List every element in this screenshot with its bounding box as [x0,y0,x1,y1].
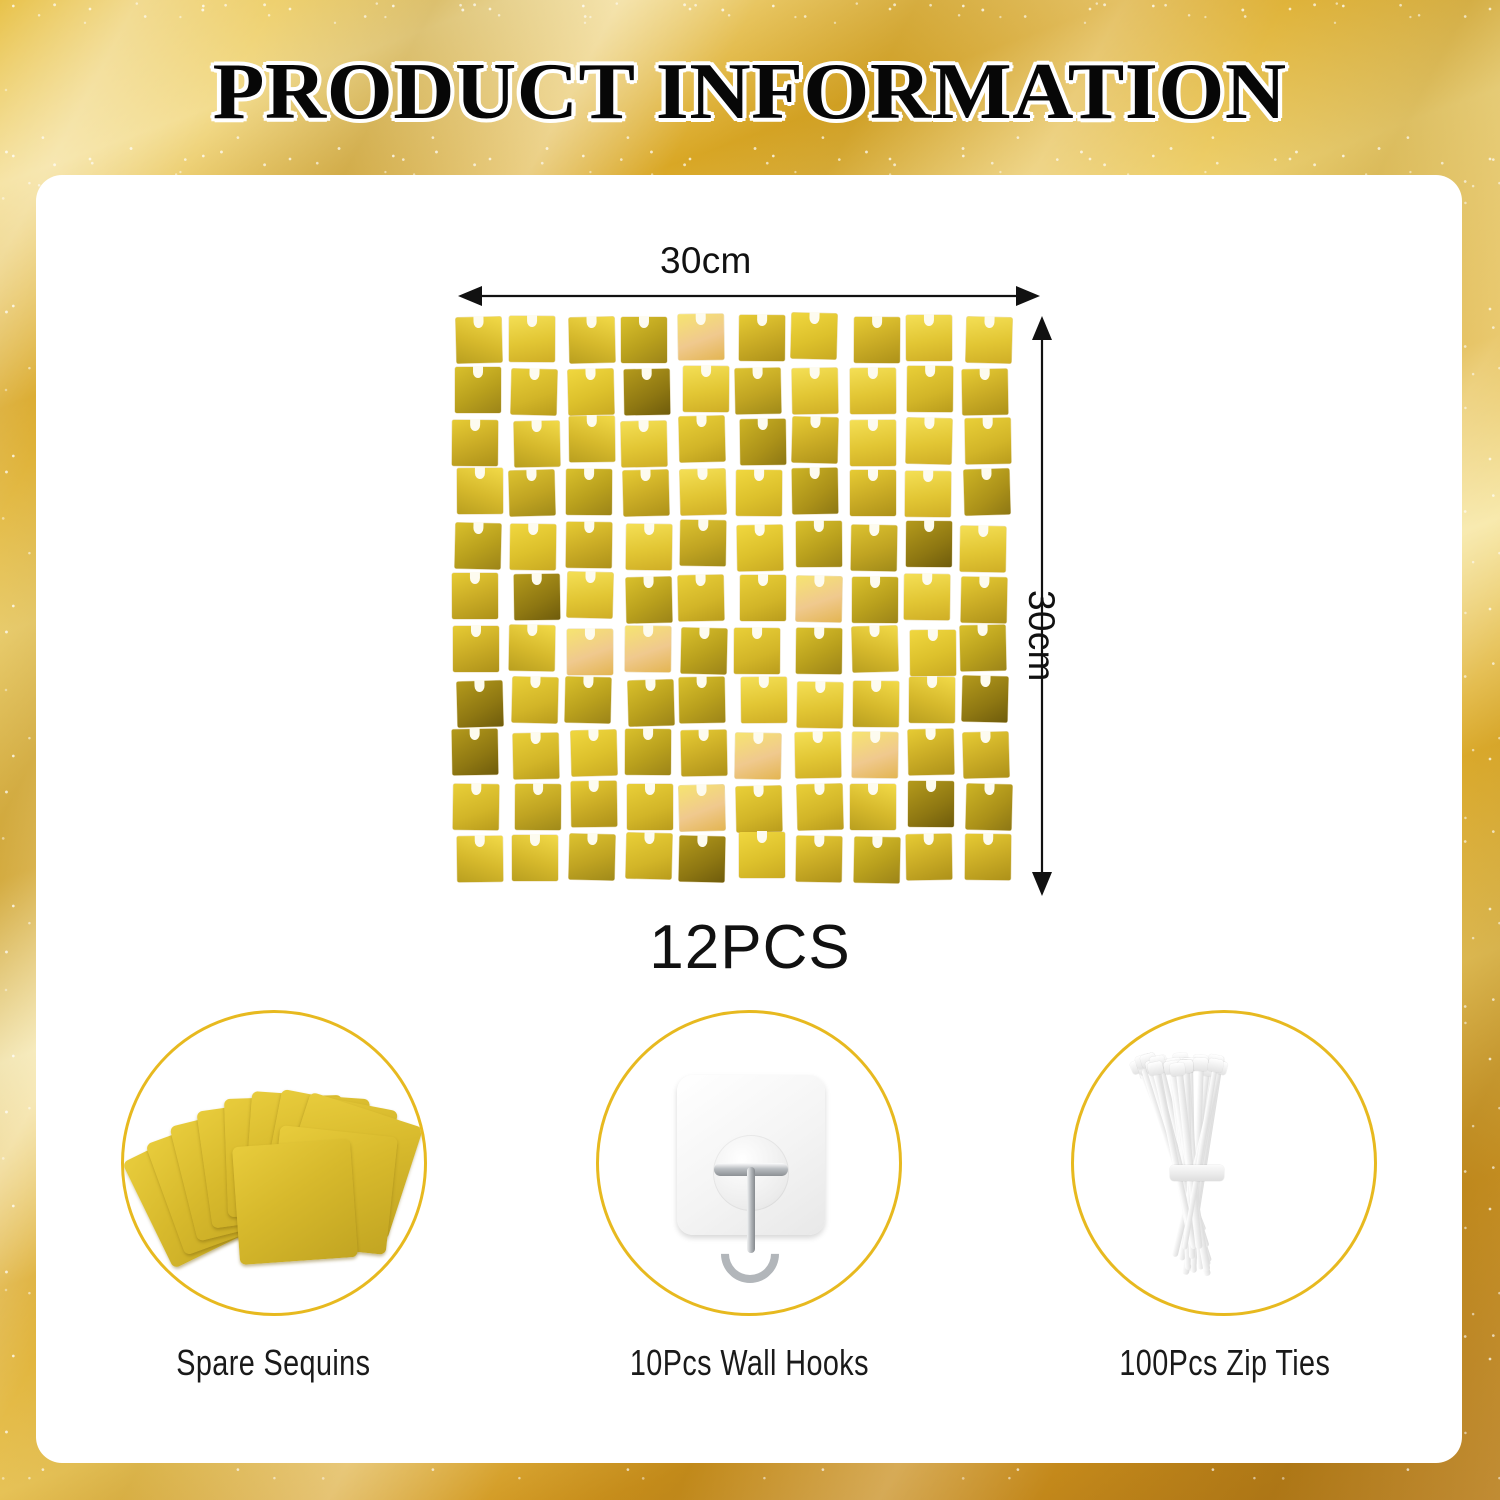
sequin [791,367,838,414]
sequin [962,732,1009,779]
sequin [508,469,555,516]
sequin [796,681,843,728]
sequin [625,833,672,880]
sequin [796,784,843,831]
product-information-infographic: PRODUCT INFORMATION 30cm 30cm 12PCS Spar… [0,0,1500,1500]
sequin [511,676,558,723]
sequin [679,416,726,463]
sequin [457,836,504,883]
sequin [457,468,503,514]
sequin [962,368,1009,415]
sequin [456,681,503,728]
sequin [513,732,560,779]
feature-caption: Spare Sequins [177,1342,371,1384]
sequin [452,419,498,465]
sequin [910,629,956,675]
sequin [627,784,673,830]
sequin [739,832,785,878]
sequin [625,729,671,775]
header-title-area: PRODUCT INFORMATION [0,52,1500,132]
sequin [790,312,837,359]
sequin [677,575,724,622]
sequin [566,572,613,619]
spare-sequin-card [232,1139,358,1265]
sequin [683,366,729,412]
zip-tie-head [1207,1058,1224,1073]
sequin [623,470,670,517]
sequin [961,676,1008,723]
sequin [678,836,725,883]
sequin [734,628,780,674]
sequin [621,317,667,363]
sequin [796,575,843,622]
sequin [455,367,501,413]
feature-caption: 10Pcs Wall Hooks [629,1342,868,1384]
sequin [960,625,1007,672]
sequin [740,575,786,621]
width-dimension-label: 30cm [660,240,752,282]
sequin [907,365,953,411]
sequin [965,783,1012,830]
sequin [453,626,499,672]
sequin [570,730,617,777]
feature-wall-hooks: 10Pcs Wall Hooks [584,1010,914,1384]
wall-hooks-ring [596,1010,902,1316]
sequin [569,834,616,881]
height-dimension-arrow [1030,316,1054,896]
sequin [678,314,725,361]
sequin [456,316,503,363]
sequin [626,523,673,570]
sequin [567,629,613,675]
sequin [569,416,616,463]
page-title: PRODUCT INFORMATION [213,52,1287,132]
sequin [510,524,557,571]
sequin [960,525,1007,572]
sequin [850,784,896,830]
sequin [965,418,1012,465]
sequin [681,729,728,776]
sequin [566,469,612,515]
sequin [963,469,1010,516]
sequin [679,676,726,723]
sequin [510,368,557,415]
sequin [852,732,899,779]
sequin [680,627,727,674]
sequin [905,417,952,464]
sequin [908,781,954,827]
sequin [792,468,839,515]
sequin [909,677,955,723]
sequin [850,420,896,466]
sequin [737,525,784,572]
sequin [679,520,726,567]
sequin [796,836,843,883]
sequin [455,522,502,569]
sequin [624,626,670,672]
sequin [966,316,1013,363]
sequin [850,470,896,516]
sequin [792,416,839,463]
hook-curve [709,1213,791,1295]
sequin [570,781,617,828]
included-accessories: Spare Sequins 10Pcs Wall Hooks [36,1010,1462,1450]
sequin [680,469,727,516]
zip-ties-ring [1071,1010,1377,1316]
sequin [735,733,782,780]
sequin [905,471,951,517]
sequin [906,521,952,567]
sequin [514,573,561,620]
zip-tie-head [1170,1062,1186,1077]
sequin [514,784,560,830]
sequin [905,833,952,880]
sequin [452,573,498,619]
width-dimension-arrow [458,284,1040,308]
sequin [452,783,499,830]
sequin [795,731,842,778]
sequin-panel [455,315,1035,893]
zip-tie-band [1170,1165,1224,1181]
sequin [904,574,950,620]
feature-spare-sequins: Spare Sequins [109,1010,439,1384]
spare-sequins-ring [121,1010,427,1316]
sequin [512,835,558,881]
quantity-label: 12PCS [0,912,1500,983]
feature-zip-ties: 100Pcs Zip Ties [1059,1010,1389,1384]
sequin [567,369,614,416]
feature-caption: 100Pcs Zip Ties [1119,1342,1330,1384]
sequin [853,680,899,726]
sequin [908,728,955,775]
sequin [626,576,673,623]
sequin [451,729,498,776]
sequin [906,315,952,361]
sequin [566,521,613,568]
sequin [678,785,725,832]
sequin [796,628,842,674]
sequin [509,316,555,362]
sequin [736,785,783,832]
sequin [735,368,782,415]
sequin [621,421,668,468]
sequin [854,317,900,363]
sequin [509,624,556,671]
sequin [624,368,671,415]
sequin [853,836,900,883]
sequin [851,525,898,572]
sequin [736,470,782,516]
sequin [960,577,1007,624]
sequin [851,626,898,673]
sequin [852,577,898,623]
sequin [850,368,896,414]
sequin [795,521,841,567]
sequin [741,677,787,723]
zip-tie-head [1192,1058,1207,1072]
sequin [568,316,615,363]
sequin [564,677,611,724]
adhesive-pad [677,1075,825,1235]
sequin [965,833,1011,879]
sequin [627,679,674,726]
sequin [740,419,787,466]
sequin [739,315,785,361]
sequin [513,421,560,468]
